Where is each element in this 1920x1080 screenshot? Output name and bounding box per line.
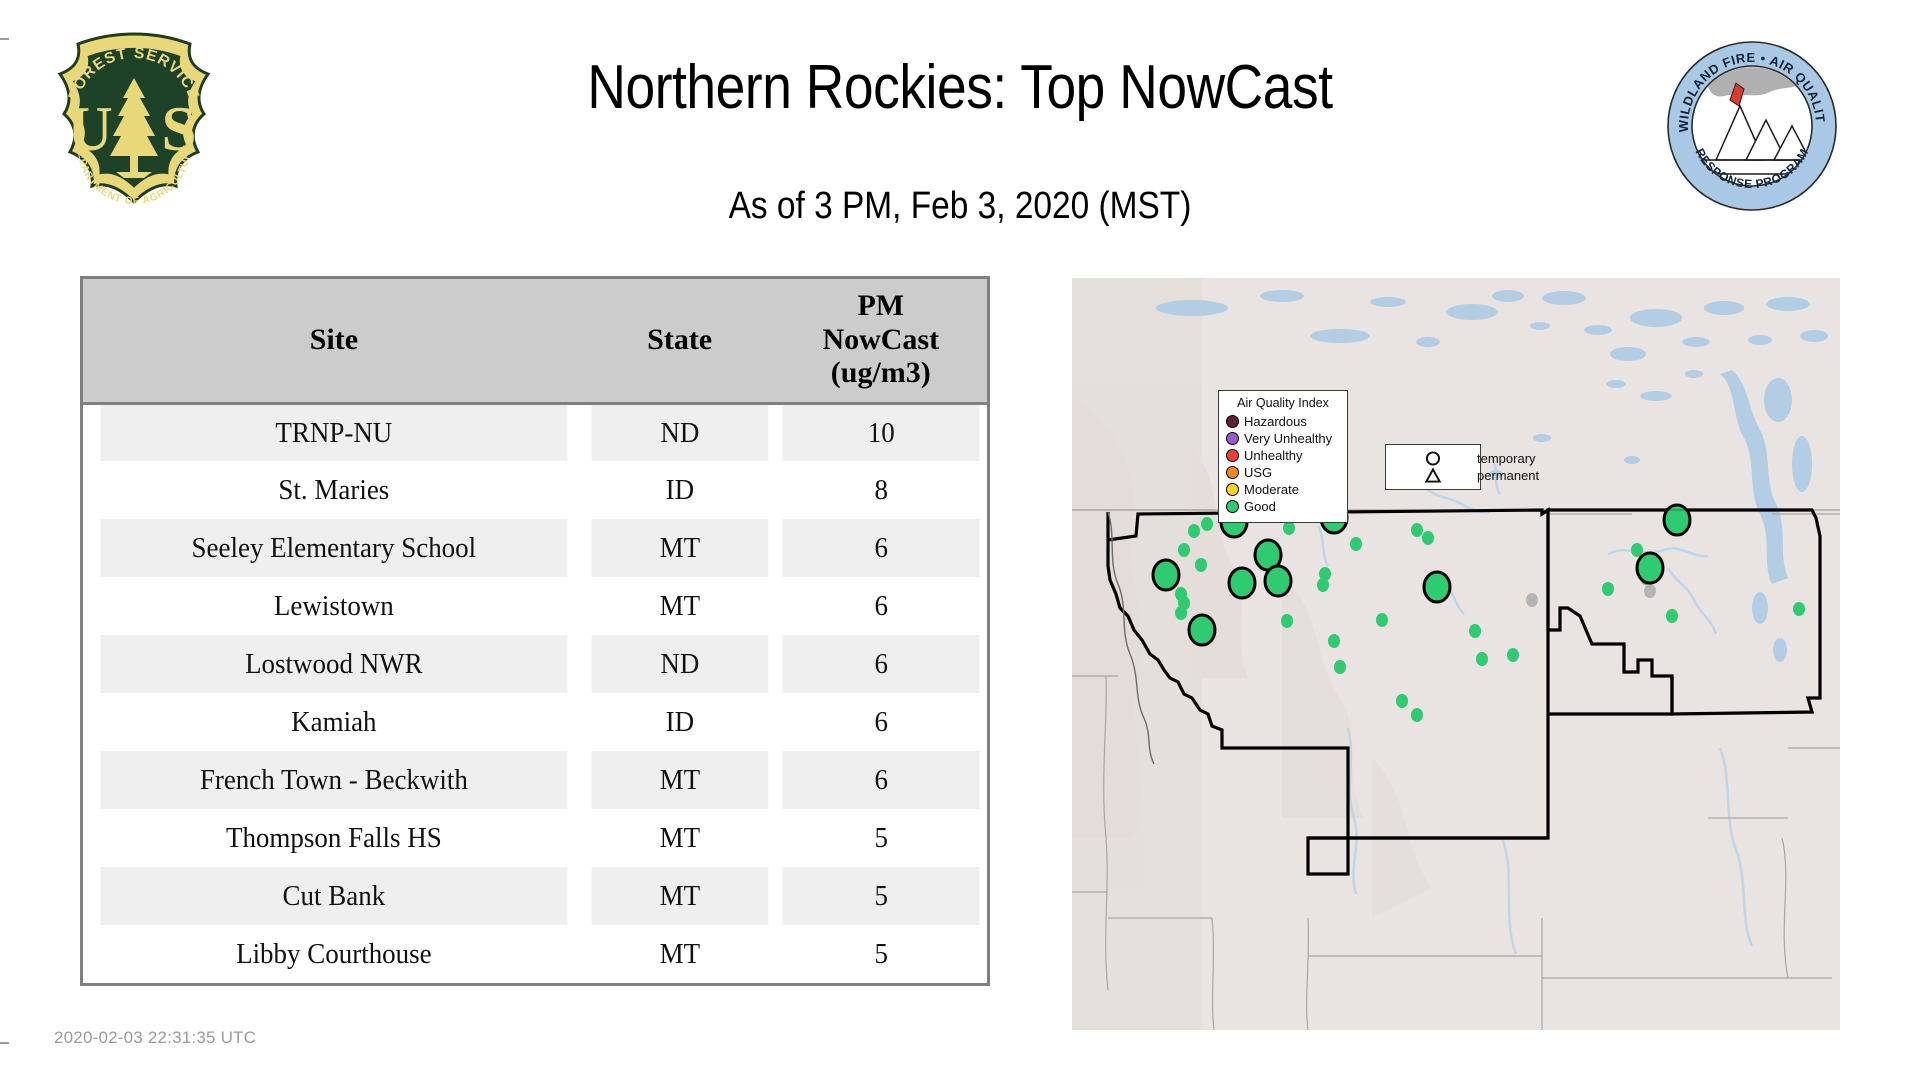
monitor-dot[interactable] — [1281, 614, 1293, 628]
aqi-legend-label: Hazardous — [1244, 415, 1307, 428]
monitor-dot[interactable] — [1644, 584, 1656, 598]
triangle-icon — [1392, 467, 1474, 484]
cell-state: ND — [591, 635, 768, 693]
monitor-dot[interactable] — [1526, 593, 1538, 607]
map-canvas — [1072, 278, 1840, 1030]
aqi-swatch-moderate-icon — [1226, 483, 1239, 496]
cell-state: ID — [591, 693, 768, 751]
cell-site: Cut Bank — [101, 867, 568, 925]
monitor-dot[interactable] — [1350, 537, 1362, 551]
aqi-swatch-hazardous-icon — [1226, 415, 1239, 428]
monitor-dot[interactable] — [1195, 558, 1207, 572]
monitor-dot[interactable] — [1411, 523, 1423, 537]
cell-pm-nowcast: 8 — [782, 461, 980, 519]
monitor-dot[interactable] — [1602, 582, 1614, 596]
aqi-swatch-very-unhealthy-icon — [1226, 432, 1239, 445]
table-row: Libby CourthouseMT5 — [83, 925, 987, 983]
monitor-dot[interactable] — [1328, 634, 1340, 648]
table-head: Site State PM NowCast (ug/m3) — [83, 279, 987, 403]
monitor-type-legend: temporary permanent — [1385, 444, 1481, 490]
monitor-dot[interactable] — [1283, 521, 1295, 535]
circle-icon — [1392, 450, 1474, 467]
legend-label-temporary: temporary — [1477, 452, 1536, 465]
table-row: Lostwood NWRND6 — [83, 635, 987, 693]
aqi-legend-item: Hazardous — [1226, 413, 1340, 430]
monitor-dot[interactable] — [1376, 613, 1388, 627]
legend-row-temporary: temporary — [1392, 450, 1474, 467]
monitor-dot[interactable] — [1411, 708, 1423, 722]
monitor-dot-highlighted[interactable] — [1153, 560, 1179, 590]
monitor-dot[interactable] — [1469, 624, 1481, 638]
table-row: Seeley Elementary SchoolMT6 — [83, 519, 987, 577]
monitor-dot[interactable] — [1201, 517, 1213, 531]
aqi-legend-label: USG — [1244, 466, 1272, 479]
usfs-shield-logo: FOREST SERVICE DEPARTMENT OF AGRICULTURE… — [48, 30, 220, 220]
cell-pm-nowcast: 6 — [782, 519, 980, 577]
monitor-dot[interactable] — [1666, 609, 1678, 623]
cell-state: MT — [591, 577, 768, 635]
cell-state: MT — [591, 751, 768, 809]
aqi-legend-label: Unhealthy — [1244, 449, 1303, 462]
aqi-legend-item: USG — [1226, 464, 1340, 481]
monitor-dot[interactable] — [1175, 606, 1187, 620]
cell-site: French Town - Beckwith — [101, 751, 568, 809]
table-row: Cut BankMT5 — [83, 867, 987, 925]
cell-state: ND — [591, 403, 768, 461]
cell-site: Libby Courthouse — [101, 925, 568, 983]
monitor-dot[interactable] — [1507, 648, 1519, 662]
aqi-legend-title: Air Quality Index — [1226, 396, 1340, 410]
aqi-legend-item: Good — [1226, 498, 1340, 515]
aqi-legend-item: Unhealthy — [1226, 447, 1340, 464]
table-body: TRNP-NUND10St. MariesID8Seeley Elementar… — [83, 403, 987, 983]
aqi-legend-label: Very Unhealthy — [1244, 432, 1332, 445]
aqi-legend-rows: HazardousVery UnhealthyUnhealthyUSGModer… — [1226, 413, 1340, 515]
crop-mark-bottom-left — [0, 1042, 9, 1044]
monitor-dot[interactable] — [1188, 524, 1200, 538]
nowcast-table-container: Site State PM NowCast (ug/m3) TRNP-NUND1… — [80, 276, 990, 986]
legend-row-permanent: permanent — [1392, 467, 1474, 484]
cell-site: Lewistown — [101, 577, 568, 635]
table-row: French Town - BeckwithMT6 — [83, 751, 987, 809]
cell-pm-nowcast: 10 — [782, 403, 980, 461]
table-row: TRNP-NUND10 — [83, 403, 987, 461]
monitor-dot[interactable] — [1793, 602, 1805, 616]
cell-state: MT — [591, 867, 768, 925]
aqi-legend-label: Moderate — [1244, 483, 1299, 496]
aqi-swatch-unhealthy-icon — [1226, 449, 1239, 462]
cell-pm-nowcast: 6 — [782, 751, 980, 809]
air-quality-map[interactable]: Air Quality Index HazardousVery Unhealth… — [1072, 278, 1840, 1030]
table-header-row: Site State PM NowCast (ug/m3) — [83, 279, 987, 403]
aqi-swatch-good-icon — [1226, 500, 1239, 513]
cell-site: TRNP-NU — [101, 403, 568, 461]
table-row: St. MariesID8 — [83, 461, 987, 519]
monitor-dot[interactable] — [1178, 543, 1190, 557]
wfaqrp-logo: WILDLAND FIRE • AIR QUALITY RESPONSE PRO… — [1666, 40, 1838, 212]
aqi-swatch-usg-icon — [1226, 466, 1239, 479]
top-nowcast-table: Site State PM NowCast (ug/m3) TRNP-NUND1… — [83, 279, 987, 983]
generation-timestamp: 2020-02-03 22:31:35 UTC — [54, 1028, 256, 1048]
column-header-pm-line3: (ug/m3) — [779, 356, 983, 390]
usfs-letter-u: U — [67, 94, 113, 164]
aqi-legend-item: Moderate — [1226, 481, 1340, 498]
cell-site: St. Maries — [101, 461, 568, 519]
column-header-state: State — [585, 279, 775, 403]
cell-pm-nowcast: 6 — [782, 693, 980, 751]
monitor-dot[interactable] — [1476, 652, 1488, 666]
legend-label-permanent: permanent — [1477, 469, 1539, 482]
cell-site: Lostwood NWR — [101, 635, 568, 693]
cell-pm-nowcast: 5 — [782, 809, 980, 867]
page-title: Northern Rockies: Top NowCast — [358, 52, 1562, 123]
monitor-dot[interactable] — [1334, 660, 1346, 674]
cell-state: MT — [591, 925, 768, 983]
monitor-dot-highlighted[interactable] — [1265, 566, 1291, 596]
monitor-dot[interactable] — [1422, 531, 1434, 545]
cell-pm-nowcast: 5 — [782, 867, 980, 925]
cell-site: Kamiah — [101, 693, 568, 751]
column-header-site: Site — [83, 279, 585, 403]
monitor-dot-highlighted[interactable] — [1637, 553, 1663, 583]
aqi-legend: Air Quality Index HazardousVery Unhealth… — [1218, 390, 1348, 523]
aqi-legend-label: Good — [1244, 500, 1276, 513]
cell-pm-nowcast: 5 — [782, 925, 980, 983]
cell-site: Thompson Falls HS — [101, 809, 568, 867]
page-subtitle: As of 3 PM, Feb 3, 2020 (MST) — [344, 185, 1576, 228]
cell-state: MT — [591, 519, 768, 577]
cell-state: ID — [591, 461, 768, 519]
column-header-pm-line1: PM — [779, 289, 983, 323]
monitor-dot[interactable] — [1317, 578, 1329, 592]
cell-site: Seeley Elementary School — [101, 519, 568, 577]
table-row: KamiahID6 — [83, 693, 987, 751]
cell-pm-nowcast: 6 — [782, 577, 980, 635]
table-row: Thompson Falls HSMT5 — [83, 809, 987, 867]
monitor-dot-highlighted[interactable] — [1424, 572, 1450, 602]
crop-mark-top-left — [0, 38, 9, 40]
column-header-pm-line2: NowCast — [779, 323, 983, 357]
usfs-letter-s: S — [161, 94, 196, 164]
monitor-dot-highlighted[interactable] — [1189, 615, 1215, 645]
table-row: LewistownMT6 — [83, 577, 987, 635]
cell-pm-nowcast: 6 — [782, 635, 980, 693]
cell-state: MT — [591, 809, 768, 867]
column-header-pm-nowcast: PM NowCast (ug/m3) — [775, 279, 987, 403]
monitor-dot-highlighted[interactable] — [1229, 568, 1255, 598]
aqi-legend-item: Very Unhealthy — [1226, 430, 1340, 447]
monitor-dot[interactable] — [1396, 694, 1408, 708]
slide-root: FOREST SERVICE DEPARTMENT OF AGRICULTURE… — [0, 0, 1920, 1080]
